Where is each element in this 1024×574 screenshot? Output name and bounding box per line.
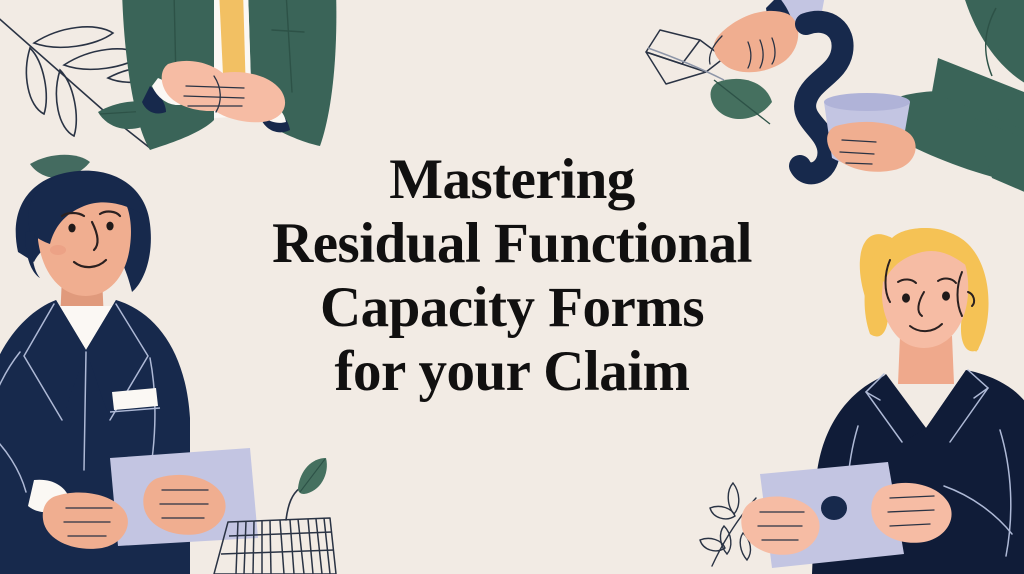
right-person-laptop-logo xyxy=(821,496,847,520)
illustration-layer xyxy=(0,0,1024,574)
left-person-eye-right xyxy=(106,222,113,231)
left-person-cheek xyxy=(50,245,66,255)
left-person-eye-left xyxy=(68,224,75,233)
poster-canvas: Mastering Residual Functional Capacity F… xyxy=(0,0,1024,574)
cup-rim xyxy=(824,93,910,111)
right-person-eye-right xyxy=(942,291,950,300)
right-person-eye-left xyxy=(902,293,910,302)
